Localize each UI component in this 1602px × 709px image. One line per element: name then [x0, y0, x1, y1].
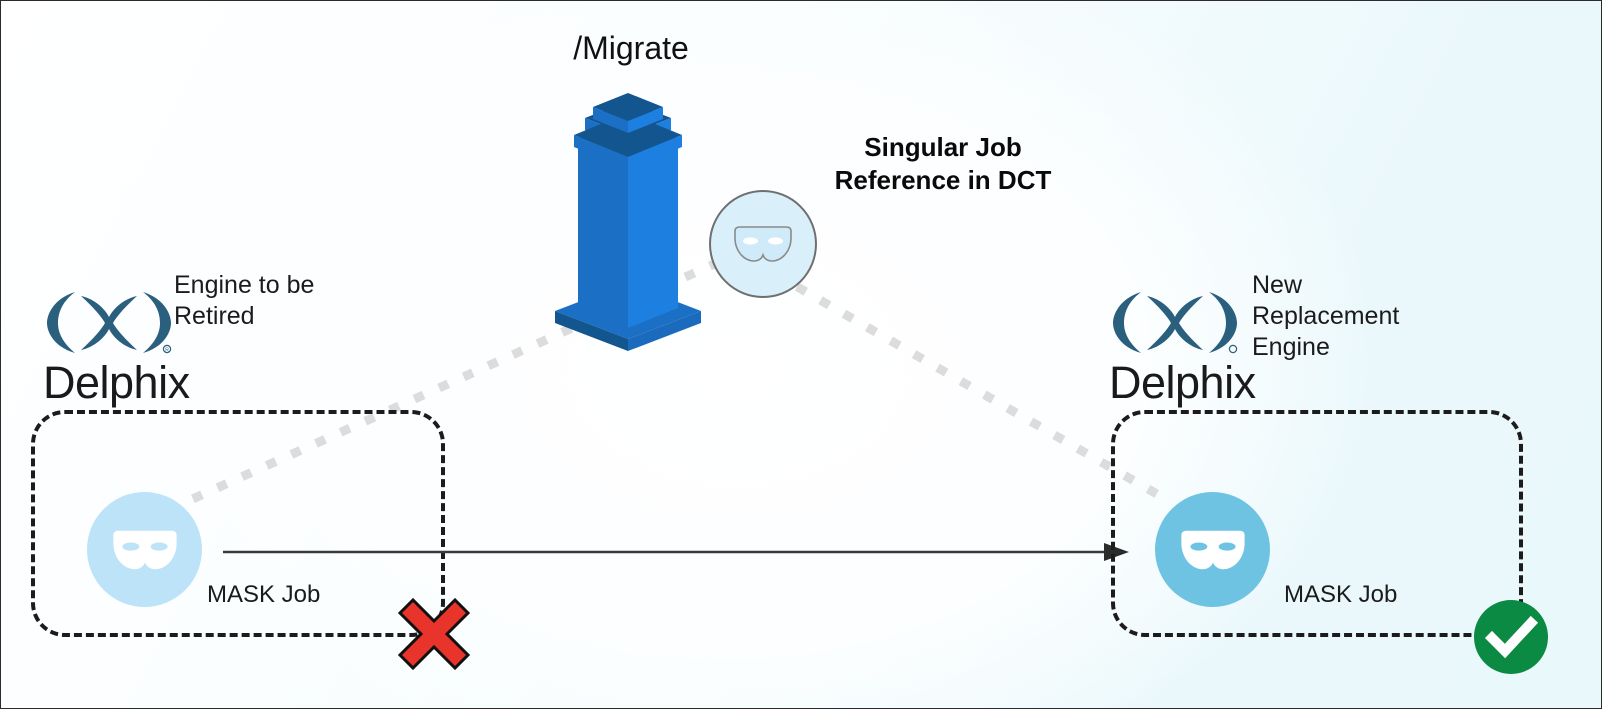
delphix-logo-mark-right	[1111, 287, 1239, 357]
mask-icon	[732, 224, 794, 264]
left-engine-label: Engine to be Retired	[174, 270, 394, 332]
right-mask-job-label: MASK Job	[1284, 581, 1397, 609]
green-check-icon	[1472, 598, 1550, 676]
right-mask-job-circle[interactable]	[1155, 492, 1270, 607]
migrate-title: /Migrate	[466, 29, 796, 67]
right-engine-label: New Replacement Engine	[1252, 270, 1502, 363]
singular-job-callout: Singular Job Reference in DCT	[813, 131, 1073, 197]
mask-icon	[1178, 527, 1248, 573]
red-x-icon	[393, 593, 475, 675]
delphix-wordmark-left: Delphix	[43, 357, 190, 409]
left-mask-job-circle[interactable]	[87, 492, 202, 607]
migrate-hub-mask-circle[interactable]	[709, 190, 817, 298]
mask-icon	[110, 527, 180, 573]
delphix-wordmark-right: Delphix	[1109, 357, 1256, 409]
diagram-canvas: /Migrate Singular Job Reference in DCT	[0, 0, 1602, 709]
svg-text:R: R	[165, 348, 169, 354]
delphix-logo-mark-left: R	[45, 287, 173, 357]
left-mask-job-label: MASK Job	[207, 581, 320, 609]
flow-arrow	[219, 536, 1139, 572]
office-building-icon	[553, 83, 703, 318]
